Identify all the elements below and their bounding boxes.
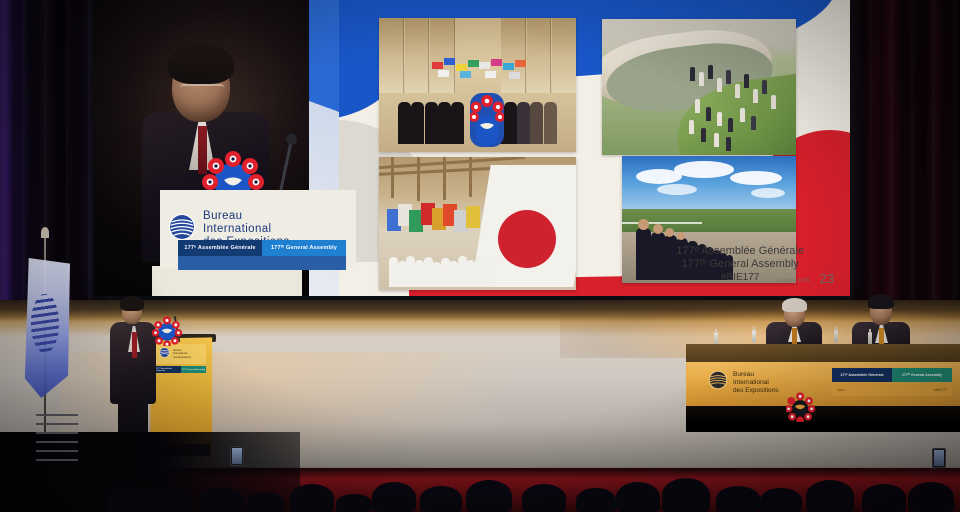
- assembly-title-french: 177ᵉ Assemblée Générale: [676, 245, 804, 258]
- podium-bie-logo-icon: [159, 345, 170, 363]
- stage-stairs: [36, 414, 80, 476]
- projection-screen: Bureau International des Expositions 177…: [92, 0, 852, 298]
- audience-member: [420, 486, 462, 512]
- head-table: Bureau International des Expositions 177…: [686, 300, 960, 432]
- audience-member: [336, 494, 372, 512]
- audience-member: [576, 488, 616, 512]
- table-tab-french: 177ᵉ Assemblée Générale: [832, 368, 892, 382]
- audience-member: [908, 482, 954, 512]
- podium-organisation-text: Bureau International des Expositions: [173, 349, 191, 359]
- audience-member: [466, 480, 512, 512]
- table-language-tabs: 177ᵉ Assemblée Générale 177ᵗʰ General As…: [832, 368, 952, 382]
- table-footer-left: expo: [837, 388, 844, 392]
- projection-screen-surface: Bureau International des Expositions 177…: [94, 0, 850, 296]
- table-tab-english: 177ᵗʰ General Assembly: [892, 368, 952, 382]
- slide-tab-english: 177ᵗʰ General Assembly: [262, 240, 346, 256]
- collage-photo-1: [379, 18, 576, 152]
- org-line-1: Bureau: [203, 210, 290, 223]
- assembly-title-english: 177ᵗʰ General Assembly: [676, 258, 804, 271]
- podium-language-tabs: 177ᵉ Assemblée Générale 177ᵗʰ General As…: [156, 366, 206, 373]
- podium-org-line-3: des Expositions: [173, 356, 191, 359]
- slide-tab-french: 177ᵉ Assemblée Générale: [178, 240, 262, 256]
- audience-member: [246, 492, 284, 512]
- feed-podium: [152, 266, 302, 296]
- audience-area: [0, 432, 960, 512]
- podium-tab-english: 177ᵗʰ General Assembly: [181, 366, 206, 373]
- slide-number: 23: [820, 271, 834, 286]
- audience-member: [616, 482, 660, 512]
- slide-footer-bar: [178, 256, 346, 270]
- audience-phone-left: [230, 446, 244, 466]
- audience-member: [716, 486, 760, 512]
- audience-member: [862, 484, 906, 512]
- feed-speaker-glasses: [180, 84, 224, 96]
- collage-photo-2: [602, 19, 796, 155]
- audience-member: [290, 484, 334, 512]
- assembly-hashtag: #BIE177: [676, 271, 804, 284]
- water-bottle-2: [752, 330, 756, 343]
- podium-myaku-myaku-mascot-icon: [152, 316, 182, 346]
- audience-member: [662, 478, 710, 512]
- audience-member: [106, 486, 148, 512]
- table-organisation-block: Bureau International des Expositions: [708, 370, 779, 395]
- podium-organisation-sign: Bureau International des Expositions: [156, 344, 206, 364]
- audience-member: [200, 488, 244, 512]
- table-organisation-text: Bureau International des Expositions: [733, 371, 779, 395]
- table-org-line-1: Bureau: [733, 371, 779, 379]
- bie-flag: [22, 258, 70, 398]
- audience-member: [806, 480, 854, 512]
- collage-photo-1-mascot: [470, 93, 504, 147]
- audience-member: [150, 490, 190, 512]
- slide-language-tabs: 177ᵉ Assemblée Générale 177ᵗʰ General As…: [178, 240, 346, 256]
- collage-photo-3: [379, 157, 576, 290]
- projected-assembly-title: 177ᵉ Assemblée Générale 177ᵗʰ General As…: [676, 245, 804, 284]
- auditorium-scene: Bureau International des Expositions 177…: [0, 0, 960, 512]
- org-line-2: International: [203, 223, 290, 236]
- audience-member: [760, 488, 802, 512]
- water-bottle-3: [834, 330, 838, 343]
- table-myaku-myaku-mascot-icon: [786, 392, 816, 422]
- audience-phone-right: [932, 448, 946, 468]
- audience-member: [372, 482, 416, 512]
- table-footer-right: #BIE177: [934, 388, 947, 392]
- feed-speaker-hair: [168, 44, 234, 84]
- head-table-shadow: [686, 406, 960, 432]
- table-org-line-2: International: [733, 379, 779, 387]
- audience-member: [522, 484, 566, 512]
- table-bie-logo-icon: [708, 370, 728, 395]
- table-banner-footer: expo #BIE177: [832, 384, 952, 396]
- table-org-line-3: des Expositions: [733, 387, 779, 395]
